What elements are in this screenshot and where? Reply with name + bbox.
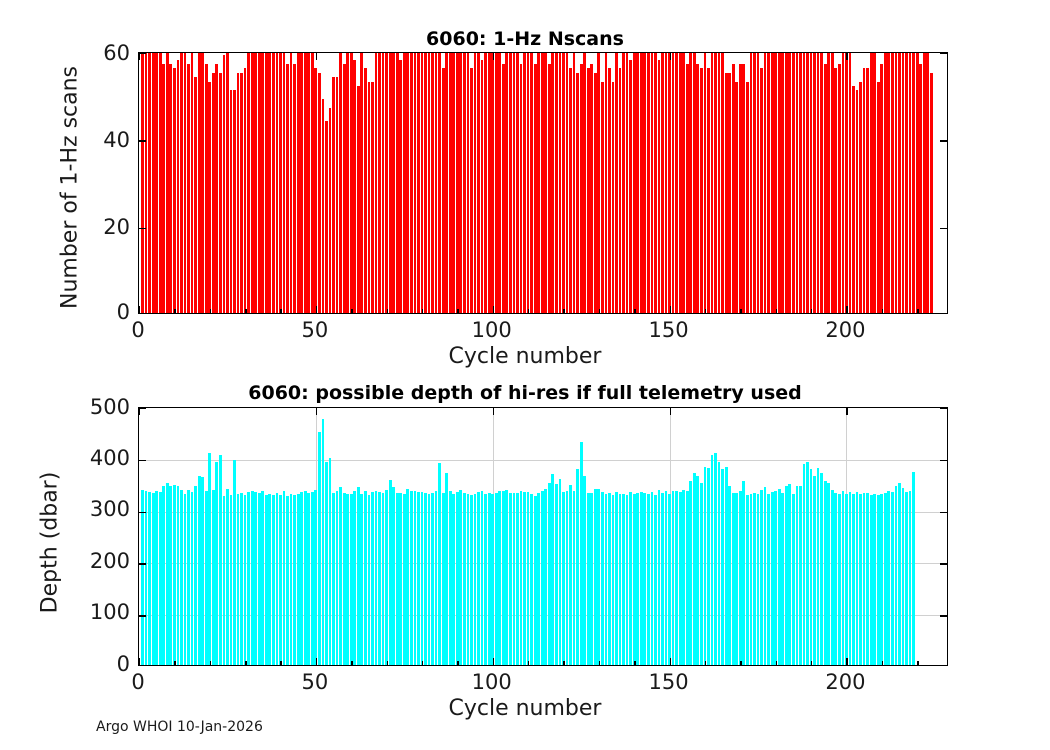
axis-tick-x <box>316 306 317 313</box>
bar <box>201 477 204 665</box>
bar <box>845 494 848 665</box>
bar <box>141 490 144 665</box>
axis-tick-x-minor <box>776 309 777 313</box>
bar <box>286 64 289 313</box>
bar <box>544 52 547 313</box>
bar <box>177 486 180 665</box>
bar <box>417 492 420 665</box>
axis-tick-x-minor <box>882 309 883 313</box>
bar <box>145 491 148 665</box>
axis-tick-x-minor <box>351 661 352 665</box>
bar <box>661 52 664 313</box>
bar <box>827 483 830 665</box>
bar <box>803 464 806 665</box>
bar <box>569 68 572 313</box>
axis-tick-x-minor <box>705 309 706 313</box>
bar <box>498 491 501 665</box>
bar <box>353 60 356 313</box>
bar <box>452 52 455 313</box>
axis-tick-x-minor <box>634 309 635 313</box>
bar <box>827 52 830 313</box>
bar <box>587 68 590 313</box>
bar <box>527 52 530 313</box>
bar <box>456 492 459 665</box>
bar <box>474 494 477 665</box>
bar <box>212 490 215 665</box>
bar <box>279 495 282 665</box>
bar <box>870 495 873 665</box>
axis-tick-y <box>139 512 146 513</box>
bar <box>332 493 335 665</box>
bar <box>842 491 845 665</box>
axis-tick-x <box>846 658 847 665</box>
bar <box>856 90 859 313</box>
bar <box>389 480 392 665</box>
bar <box>191 492 194 665</box>
bar <box>884 493 887 665</box>
ytick-label: 400 <box>90 446 130 470</box>
bar <box>520 491 523 665</box>
bar <box>530 494 533 665</box>
bar <box>520 64 523 313</box>
bar <box>491 52 494 313</box>
bar <box>364 491 367 665</box>
bar <box>566 491 569 665</box>
bar <box>760 68 763 313</box>
bar <box>226 489 229 665</box>
bar <box>647 494 650 665</box>
bar <box>686 64 689 313</box>
bar <box>184 494 187 665</box>
ytick-label: 60 <box>103 41 130 65</box>
axis-tick-x-minor <box>528 661 529 665</box>
bar <box>223 55 226 313</box>
bar <box>268 494 271 665</box>
bar <box>375 491 378 665</box>
axis-tick-x-minor <box>245 661 246 665</box>
bar <box>261 491 264 665</box>
bar <box>587 493 590 665</box>
ytick-labels-depth: 500 400 300 200 100 0 <box>62 375 130 750</box>
bar <box>714 453 717 665</box>
bar <box>435 52 438 313</box>
axis-tick-x-minor <box>563 309 564 313</box>
bar <box>834 68 837 313</box>
bar <box>806 462 809 665</box>
axis-tick-x-minor <box>917 661 918 665</box>
bar <box>601 492 604 665</box>
bar <box>159 492 162 665</box>
axis-tick-x-minor <box>811 309 812 313</box>
bar <box>173 68 176 313</box>
bar <box>735 493 738 665</box>
bar <box>696 64 699 313</box>
bar <box>300 492 303 665</box>
bar <box>385 52 388 313</box>
bar <box>842 52 845 313</box>
bar <box>771 52 774 313</box>
bar <box>555 484 558 665</box>
bar <box>162 64 165 313</box>
bar <box>615 52 618 313</box>
bar <box>849 492 852 665</box>
bar <box>304 491 307 665</box>
bar <box>435 491 438 665</box>
bar <box>711 455 714 665</box>
bar <box>845 52 848 313</box>
figure-footnote: Argo WHOI 10-Jan-2026 <box>96 719 263 735</box>
bar <box>537 493 540 665</box>
bar <box>318 432 321 665</box>
bar <box>467 52 470 313</box>
bar <box>866 68 869 313</box>
bar <box>509 52 512 313</box>
ytick-label: 200 <box>90 549 130 573</box>
bar <box>923 52 926 313</box>
bar <box>152 52 155 313</box>
bar <box>693 473 696 665</box>
plot-area-depth <box>138 407 948 666</box>
bar <box>750 494 753 665</box>
bar <box>452 494 455 665</box>
bar <box>350 52 353 313</box>
bar <box>240 493 243 665</box>
bar <box>856 492 859 665</box>
bar <box>548 483 551 665</box>
bar <box>272 495 275 665</box>
bar <box>219 455 222 665</box>
axis-tick-x <box>316 53 317 60</box>
bar <box>495 52 498 313</box>
bar-series-nscans <box>139 53 947 313</box>
bar <box>360 52 363 313</box>
bar <box>838 494 841 665</box>
bar <box>728 486 731 665</box>
bar <box>636 52 639 313</box>
bar <box>629 492 632 665</box>
bar <box>187 64 190 313</box>
bar <box>675 52 678 313</box>
axis-tick-x <box>139 408 140 415</box>
bar <box>849 52 852 313</box>
bar <box>208 453 211 665</box>
bar <box>212 73 215 313</box>
bar <box>753 493 756 665</box>
bar <box>689 481 692 665</box>
bar <box>608 493 611 665</box>
bar <box>502 64 505 313</box>
bar <box>495 493 498 665</box>
bar <box>605 494 608 665</box>
xtick-label: 200 <box>825 670 865 694</box>
bar <box>778 489 781 665</box>
bar <box>654 495 657 665</box>
bar <box>633 494 636 665</box>
bar <box>368 495 371 665</box>
axis-tick-x-minor <box>599 661 600 665</box>
axis-tick-y <box>139 460 146 461</box>
bar <box>831 490 834 665</box>
ytick-label: 300 <box>90 497 130 521</box>
bar <box>891 492 894 665</box>
bar <box>817 52 820 313</box>
bar <box>739 64 742 313</box>
bar <box>237 73 240 313</box>
bar <box>268 52 271 313</box>
bar <box>880 64 883 313</box>
bar <box>739 491 742 665</box>
bar <box>314 490 317 665</box>
ytick-label: 40 <box>103 128 130 152</box>
bar <box>912 52 915 313</box>
bar <box>704 52 707 313</box>
bar <box>226 52 229 313</box>
bar <box>700 68 703 313</box>
bar <box>332 77 335 313</box>
bar <box>760 490 763 665</box>
axis-tick-x-minor <box>245 309 246 313</box>
bar <box>251 52 254 313</box>
bar <box>357 86 360 313</box>
bar <box>898 52 901 313</box>
axis-tick-x-minor <box>387 661 388 665</box>
bar <box>764 52 767 313</box>
bar <box>877 495 880 665</box>
bar <box>382 493 385 665</box>
bar <box>746 82 749 313</box>
bar <box>428 494 431 665</box>
bar <box>834 493 837 665</box>
axis-tick-y <box>940 615 947 616</box>
axis-tick-y <box>139 228 146 229</box>
bar <box>909 491 912 665</box>
bar <box>145 52 148 313</box>
panel-depth: 6060: possible depth of hi-res if full t… <box>0 375 1050 750</box>
bar <box>166 483 169 665</box>
bar <box>481 491 484 665</box>
bar <box>820 52 823 313</box>
bar <box>788 484 791 665</box>
bar <box>414 52 417 313</box>
bar <box>721 469 724 665</box>
bar <box>276 493 279 665</box>
bar <box>329 108 332 313</box>
bar <box>311 52 314 313</box>
bar <box>431 493 434 665</box>
bar <box>399 493 402 665</box>
bar <box>622 52 625 313</box>
axis-tick-y <box>940 53 947 54</box>
bar <box>325 462 328 665</box>
bar <box>594 73 597 313</box>
bar <box>155 52 158 313</box>
bar <box>389 52 392 313</box>
axis-tick-x-minor <box>634 661 635 665</box>
bar <box>467 494 470 665</box>
bar <box>488 52 491 313</box>
bar <box>470 68 473 313</box>
bar <box>410 52 413 313</box>
bar <box>382 52 385 313</box>
xtick-label: 50 <box>302 318 329 342</box>
bar <box>481 60 484 313</box>
ytick-label: 20 <box>103 215 130 239</box>
bar <box>576 73 579 313</box>
bar <box>926 52 929 313</box>
bar <box>406 52 409 313</box>
bar <box>555 52 558 313</box>
bar <box>580 442 583 665</box>
bar <box>392 487 395 665</box>
bar-series-depth <box>139 408 947 665</box>
bar <box>484 52 487 313</box>
bar <box>597 489 600 665</box>
bar <box>852 494 855 665</box>
bar <box>725 73 728 313</box>
bar <box>421 52 424 313</box>
bar <box>184 52 187 313</box>
bar <box>215 462 218 665</box>
bar <box>396 52 399 313</box>
bar <box>283 52 286 313</box>
bar <box>297 52 300 313</box>
bar <box>265 495 268 665</box>
bar <box>322 99 325 313</box>
bar <box>258 52 261 313</box>
axis-tick-x-minor <box>351 309 352 313</box>
bar <box>180 52 183 313</box>
bar <box>477 492 480 665</box>
bar <box>909 52 912 313</box>
bar <box>665 52 668 313</box>
bar <box>799 486 802 665</box>
axis-tick-x <box>139 306 140 313</box>
bar <box>307 52 310 313</box>
bar <box>799 52 802 313</box>
bar <box>605 52 608 313</box>
bar <box>590 64 593 313</box>
bar <box>626 495 629 665</box>
bar <box>254 492 257 665</box>
bar <box>360 494 363 665</box>
bar <box>336 491 339 665</box>
bar <box>707 68 710 313</box>
bar <box>654 52 657 313</box>
bar <box>293 64 296 313</box>
bar <box>679 492 682 665</box>
bar <box>385 490 388 665</box>
bar <box>484 494 487 665</box>
bar <box>718 52 721 313</box>
bar <box>887 52 890 313</box>
bar <box>771 492 774 665</box>
bar <box>230 90 233 313</box>
bar <box>346 52 349 313</box>
axis-tick-x <box>493 658 494 665</box>
axis-tick-y <box>940 140 947 141</box>
bar <box>201 52 204 313</box>
bar <box>148 492 151 665</box>
axis-tick-y <box>139 563 146 564</box>
bar <box>357 487 360 665</box>
bar <box>895 486 898 665</box>
bar <box>643 493 646 665</box>
bar <box>198 476 201 665</box>
bar <box>852 86 855 313</box>
bar <box>891 52 894 313</box>
bar <box>583 52 586 313</box>
xtick-label: 200 <box>825 318 865 342</box>
bar <box>682 52 685 313</box>
bar <box>824 481 827 665</box>
bar <box>459 490 462 665</box>
bar <box>619 494 622 665</box>
bar <box>778 52 781 313</box>
axis-tick-x <box>670 408 671 415</box>
bar <box>693 52 696 313</box>
bar <box>562 52 565 313</box>
bar <box>817 468 820 665</box>
bar <box>449 491 452 665</box>
bar <box>392 52 395 313</box>
bar <box>505 490 508 665</box>
bar <box>442 68 445 313</box>
bar <box>916 52 919 313</box>
axis-tick-x-minor <box>210 661 211 665</box>
bar <box>286 496 289 665</box>
bar <box>272 52 275 313</box>
bar <box>463 52 466 313</box>
bar <box>297 494 300 665</box>
bar <box>169 64 172 313</box>
bar <box>307 493 310 665</box>
axis-tick-x-minor <box>457 661 458 665</box>
bar <box>863 68 866 313</box>
bar <box>636 493 639 665</box>
bar <box>240 73 243 313</box>
bar <box>350 494 353 665</box>
bar <box>375 52 378 313</box>
bar <box>396 493 399 665</box>
bar <box>665 491 668 665</box>
bar <box>813 52 816 313</box>
axis-tick-x-minor <box>563 661 564 665</box>
bar <box>541 491 544 665</box>
axis-tick-x-minor <box>174 661 175 665</box>
bar <box>714 52 717 313</box>
bar <box>746 495 749 665</box>
axis-tick-x <box>493 306 494 313</box>
bar <box>686 491 689 665</box>
axis-tick-x <box>670 53 671 60</box>
bar <box>682 490 685 665</box>
panel-nscans: 6060: 1-Hz Nscans 60 40 20 0 Number of 1… <box>0 0 1050 375</box>
bar <box>378 492 381 665</box>
bar <box>884 52 887 313</box>
bar <box>371 82 374 313</box>
bar <box>873 52 876 313</box>
bar <box>902 488 905 665</box>
bar <box>233 460 236 665</box>
axis-tick-x-minor <box>422 309 423 313</box>
axis-tick-y <box>139 615 146 616</box>
bar <box>283 491 286 665</box>
bar <box>859 494 862 665</box>
bar <box>516 52 519 313</box>
bar <box>661 493 664 665</box>
bar <box>569 485 572 665</box>
bar <box>219 73 222 313</box>
